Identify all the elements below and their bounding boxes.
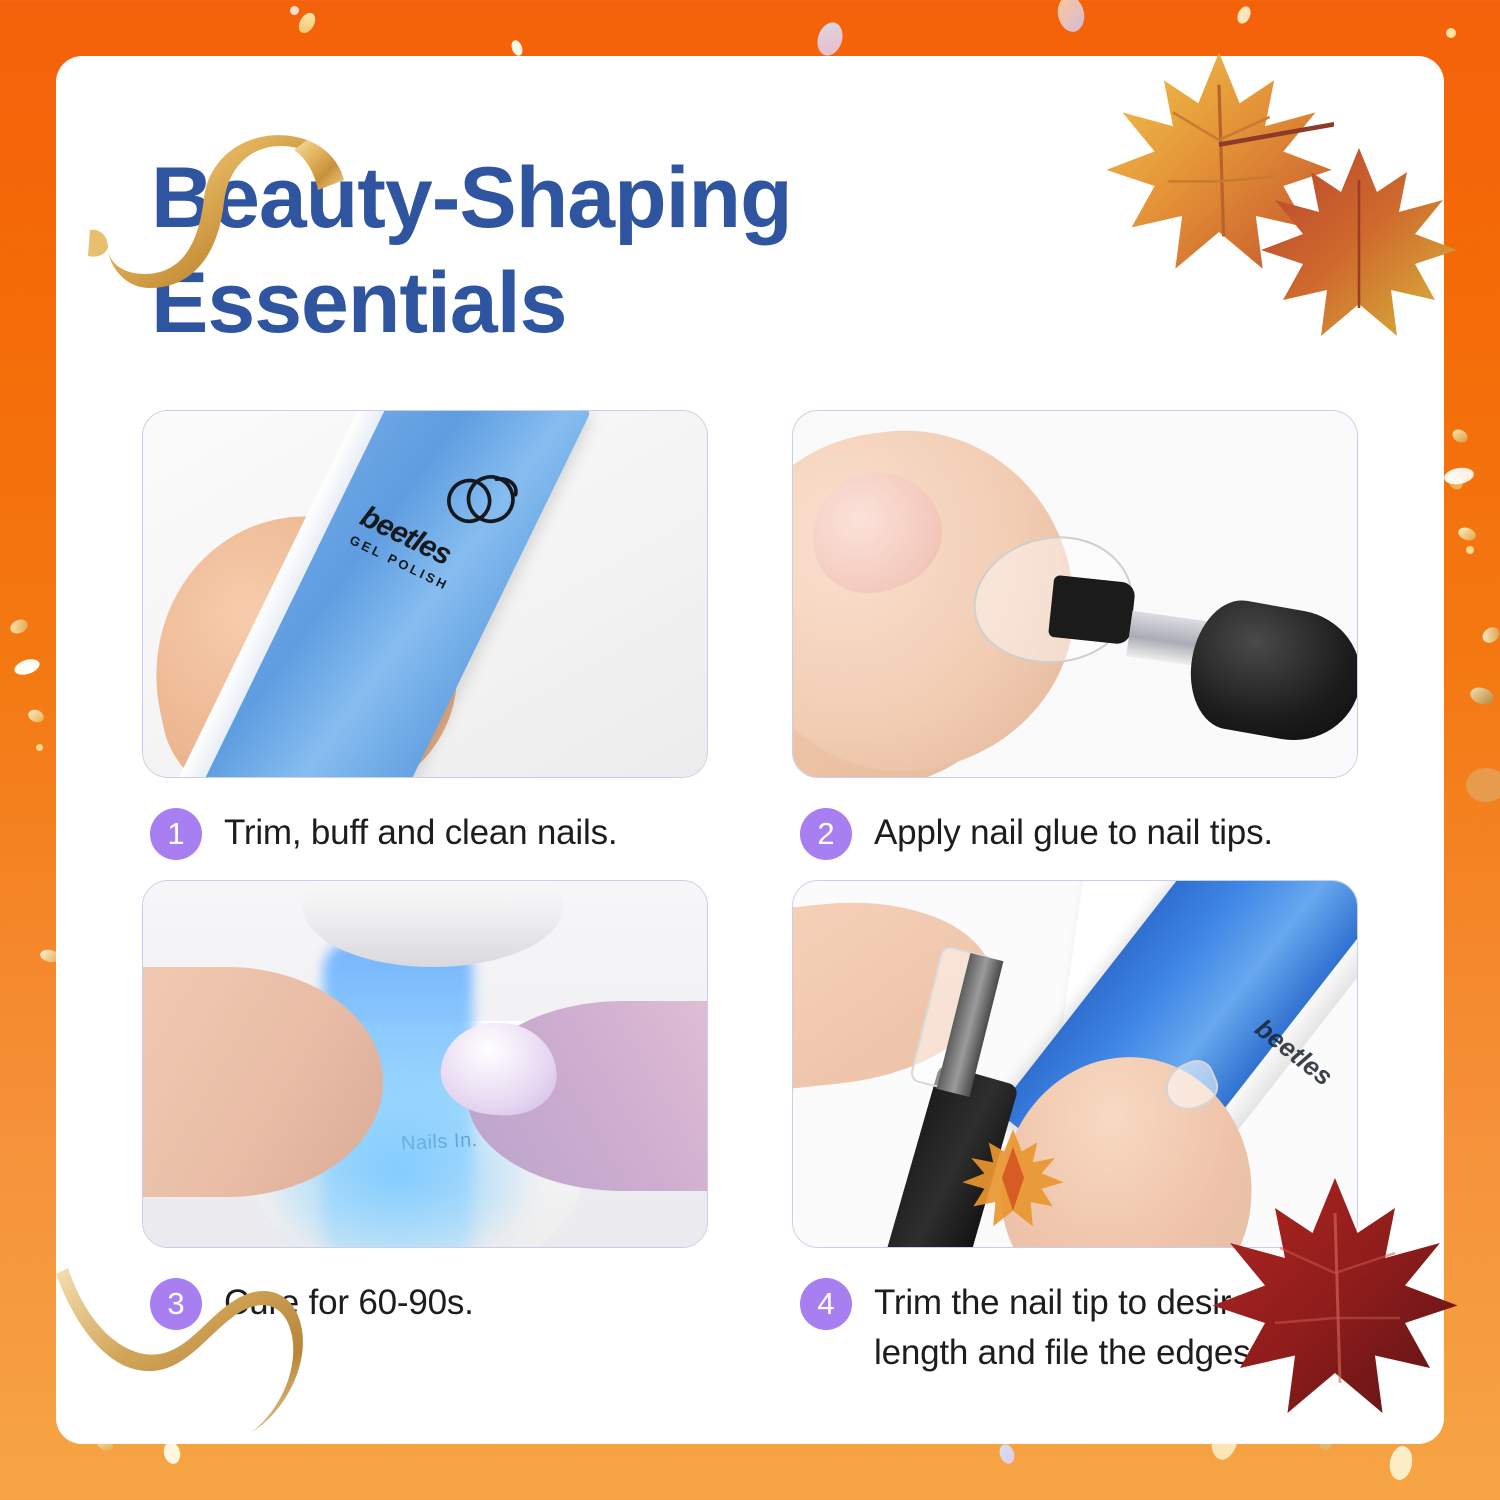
- step-1-photo: beetles GEL POLISH: [142, 410, 708, 778]
- confetti-dot: [162, 1440, 183, 1465]
- confetti-dot: [1466, 768, 1500, 802]
- confetti-dot: [1444, 468, 1466, 492]
- confetti-dot: [1443, 466, 1475, 487]
- step-2-photo: [792, 410, 1358, 778]
- confetti-dot: [510, 39, 525, 57]
- gold-ribbon-icon: [82, 118, 372, 348]
- step-2-number-badge: 2: [800, 808, 852, 860]
- confetti-dot: [813, 19, 846, 59]
- confetti-dot: [1468, 685, 1496, 708]
- confetti-dot: [26, 708, 45, 725]
- step-4-number-badge: 4: [800, 1278, 852, 1330]
- step-4-caption-line2: length and file the edges.: [874, 1333, 1260, 1372]
- confetti-dot: [290, 6, 299, 15]
- step-1-caption-row: 1 Trim, buff and clean nails.: [142, 804, 708, 860]
- glue-brush-shape: [1048, 575, 1136, 645]
- confetti-dot: [1466, 546, 1474, 554]
- confetti-dot: [1387, 1444, 1415, 1481]
- step-1: beetles GEL POLISH 1 Trim, buff and clea…: [142, 410, 708, 860]
- maple-leaf-icon: [1254, 144, 1464, 344]
- step-1-number-badge: 1: [150, 808, 202, 860]
- content-card: Beauty-Shaping Essentials beetles GEL PO…: [56, 56, 1444, 1444]
- confetti-dot: [1235, 4, 1253, 25]
- confetti-dot: [1450, 427, 1470, 445]
- step-2-caption: Apply nail glue to nail tips.: [874, 804, 1273, 858]
- step-3-photo: Nails In.: [142, 880, 708, 1248]
- confetti-dot: [12, 656, 41, 677]
- step-2: 2 Apply nail glue to nail tips.: [792, 410, 1358, 860]
- confetti-dot: [1446, 28, 1456, 38]
- step-2-caption-row: 2 Apply nail glue to nail tips.: [792, 804, 1358, 860]
- confetti-dot: [1055, 0, 1088, 34]
- step-1-caption: Trim, buff and clean nails.: [224, 804, 617, 858]
- steps-grid: beetles GEL POLISH 1 Trim, buff and clea…: [126, 410, 1374, 1377]
- maple-leaf-icon: [953, 1125, 1073, 1235]
- confetti-dot: [8, 617, 30, 636]
- confetti-dot: [997, 1442, 1017, 1466]
- confetti-dot: [1456, 525, 1477, 542]
- confetti-dot: [36, 744, 43, 751]
- confetti-dot: [1480, 624, 1500, 646]
- maple-leaf-icon: [1210, 1168, 1460, 1428]
- confetti-dot: [295, 10, 318, 36]
- gold-ribbon-icon: [56, 1244, 386, 1444]
